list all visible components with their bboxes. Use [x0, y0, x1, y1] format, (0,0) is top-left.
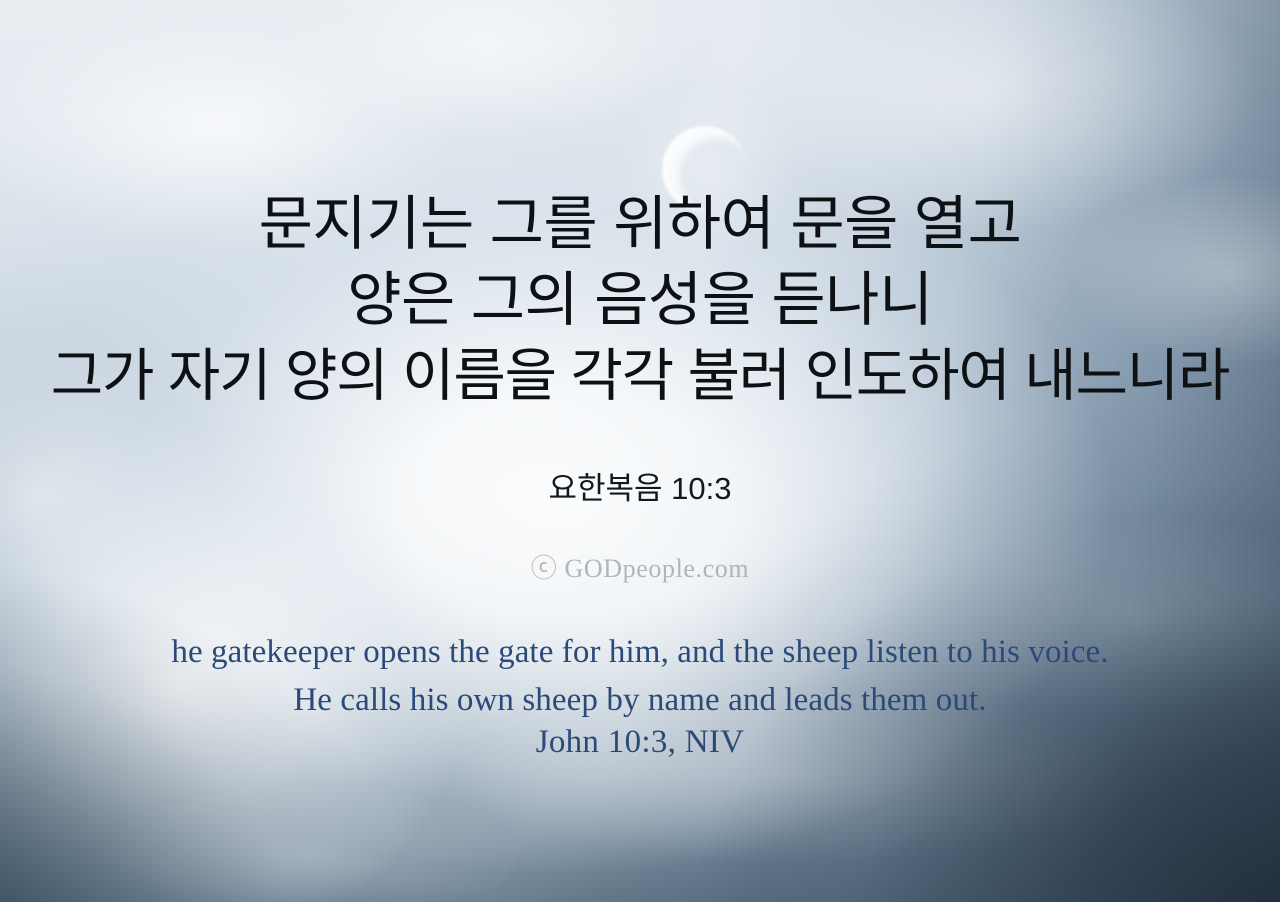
english-verse-reference: John 10:3, NIV — [0, 724, 1280, 761]
korean-verse-line-3: 그가 자기 양의 이름을 각각 불러 인도하여 내느니라 — [0, 338, 1280, 414]
english-verse-line-1: he gatekeeper opens the gate for him, an… — [0, 628, 1280, 676]
scripture-card: 문지기는 그를 위하여 문을 열고 양은 그의 음성을 듣나니 그가 자기 양의… — [0, 0, 1280, 902]
english-verse-line-2: He calls his own sheep by name and leads… — [0, 676, 1280, 724]
korean-verse-line-2: 양은 그의 음성을 듣나니 — [0, 262, 1280, 338]
korean-verse-reference: 요한복음 10:3 — [0, 463, 1280, 508]
korean-verse-text: 문지기는 그를 위하여 문을 열고 양은 그의 음성을 듣나니 그가 자기 양의… — [0, 186, 1280, 414]
copyright-watermark: ⓒ GODpeople.com — [0, 548, 1280, 585]
verse-content: 문지기는 그를 위하여 문을 열고 양은 그의 음성을 듣나니 그가 자기 양의… — [0, 0, 1280, 902]
english-verse-text: he gatekeeper opens the gate for him, an… — [0, 628, 1280, 724]
korean-verse-line-1: 문지기는 그를 위하여 문을 열고 — [0, 186, 1280, 262]
